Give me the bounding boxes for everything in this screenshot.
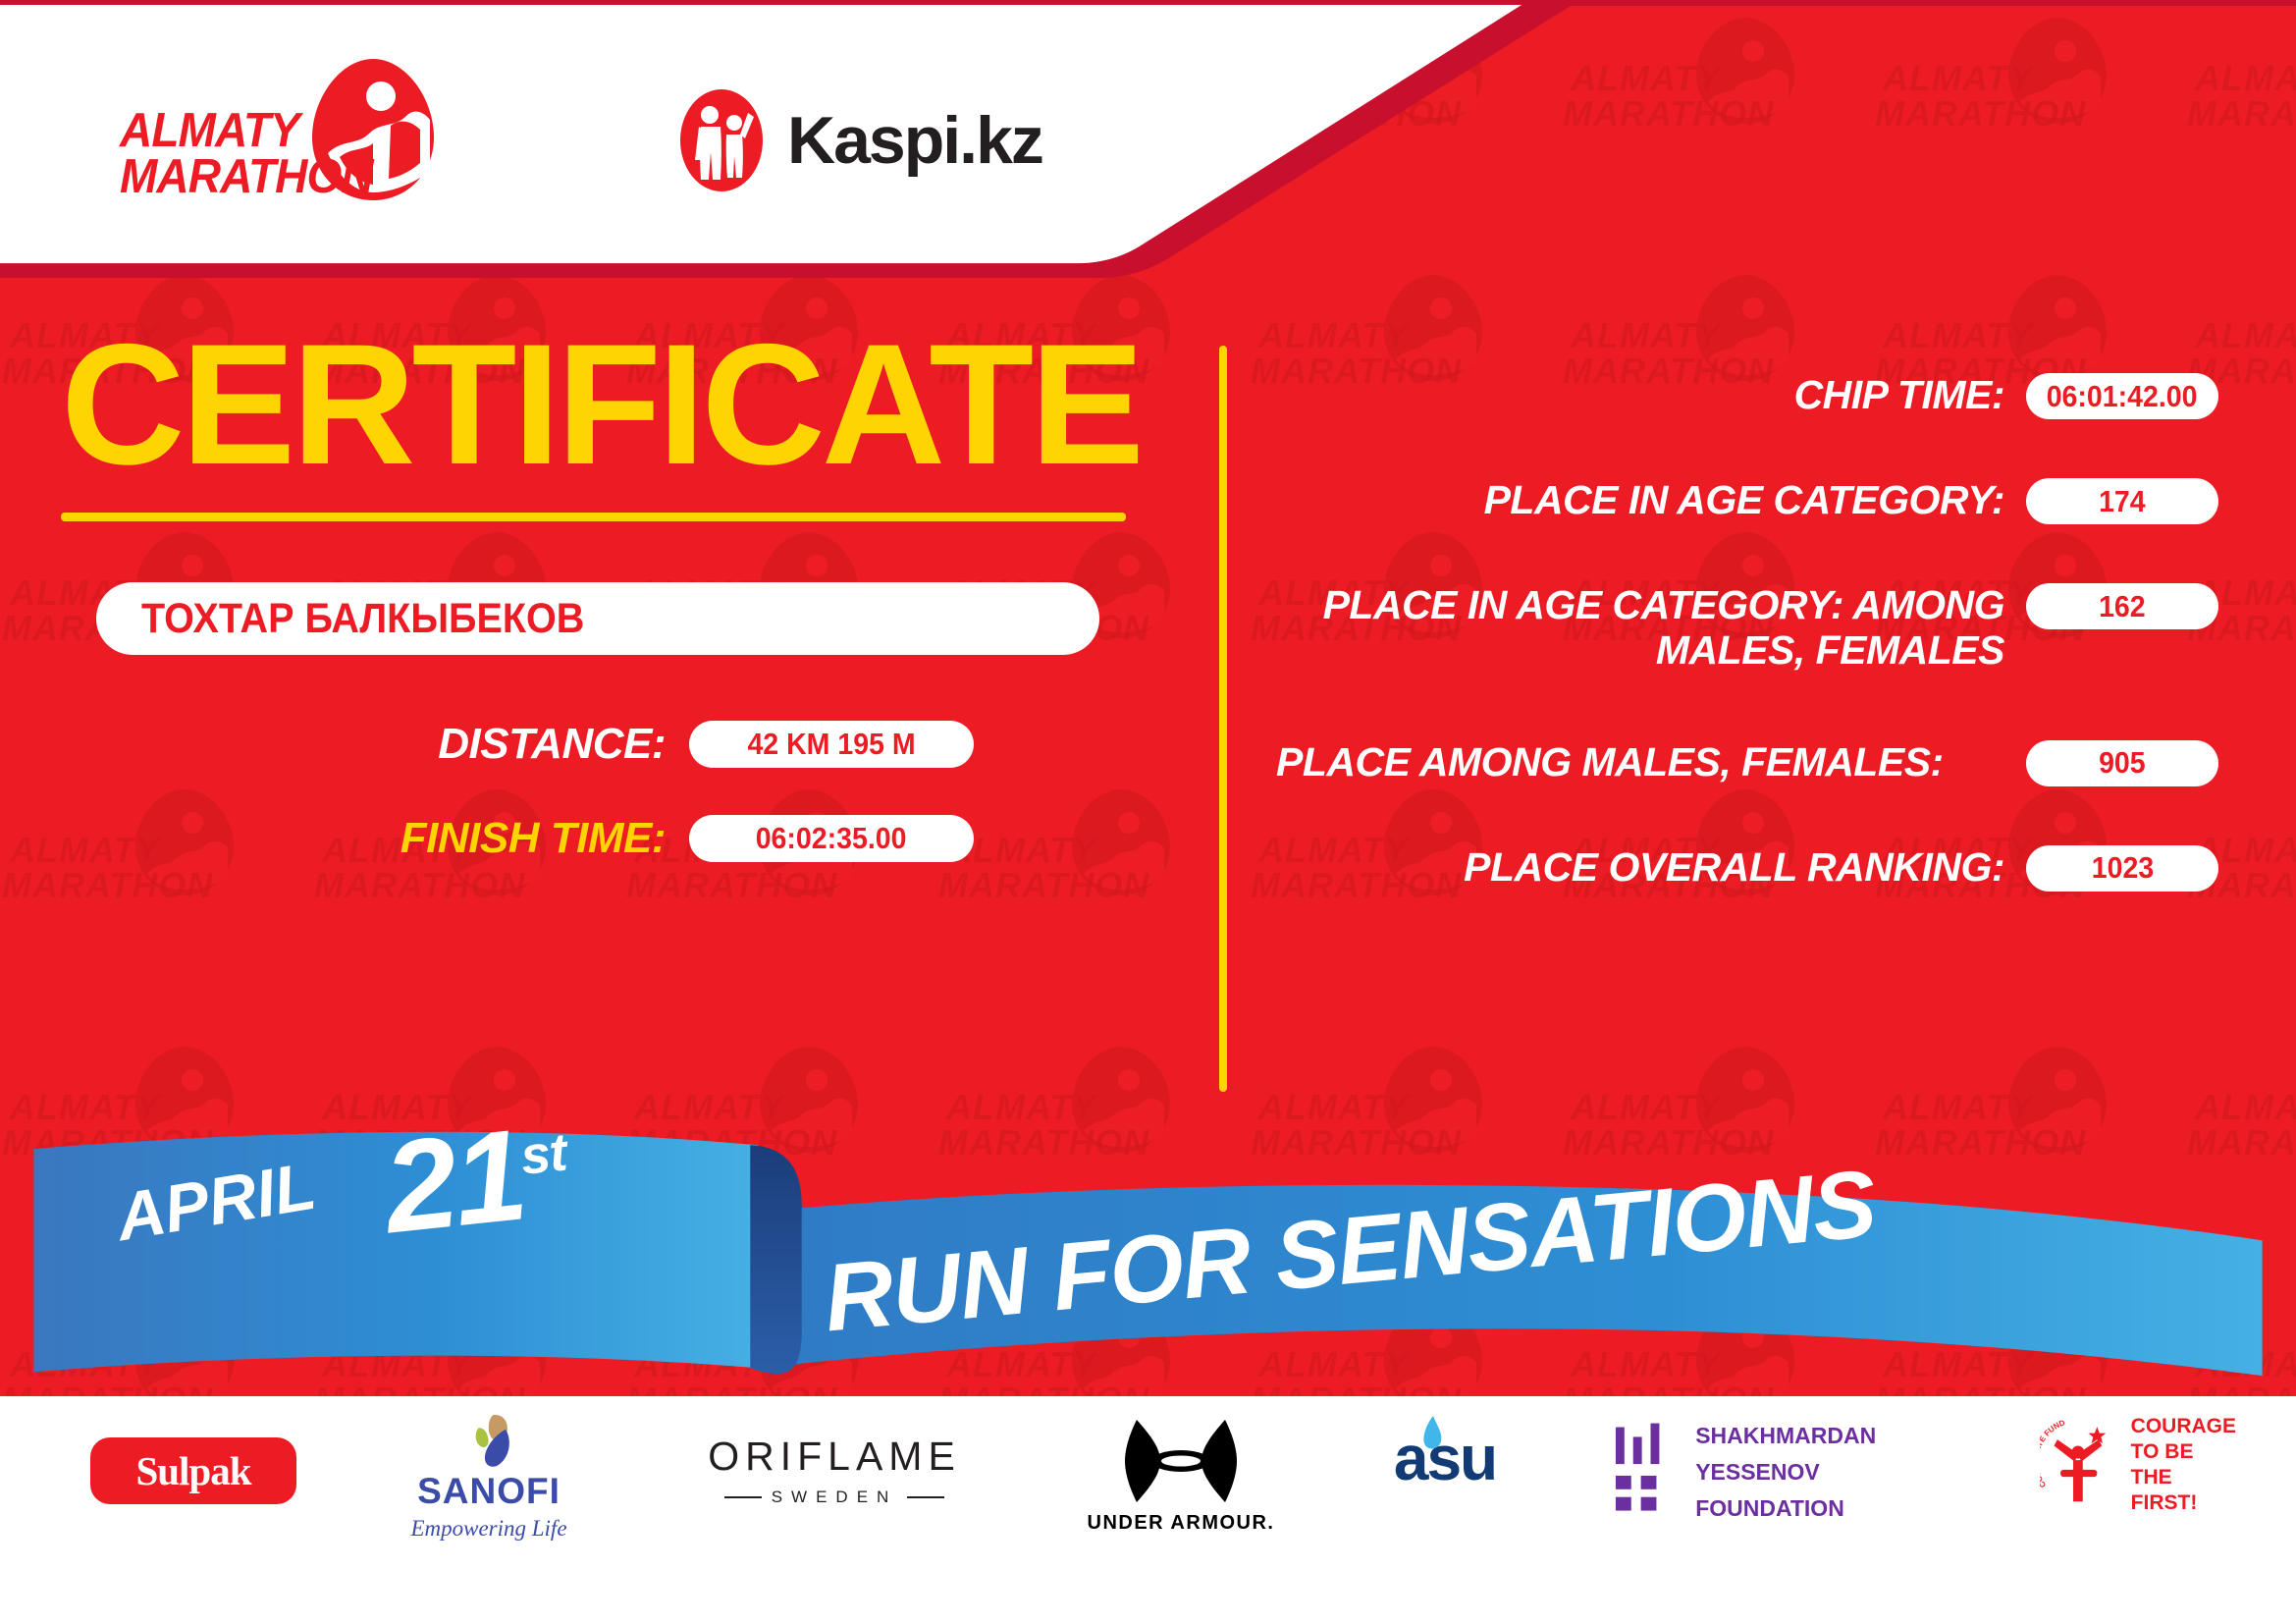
result-row-chip-time: CHIP TIME: 06:01:42.00	[1276, 373, 2218, 419]
place-age-category-gender-label: PLACE IN AGE CATEGORY: AMONG MALES, FEMA…	[1276, 583, 2004, 674]
distance-value: 42 KM 195 M	[747, 727, 915, 762]
yessenov-wordmark: SHAKHMARDAN YESSENOV FOUNDATION	[1695, 1418, 2002, 1526]
finish-time-label: FINISH TIME:	[273, 814, 666, 863]
certificate-title: CERTIFICATE	[0, 324, 1207, 487]
place-age-category-gender-value: 162	[2099, 589, 2146, 624]
place-age-category-gender-value-pill: 162	[2026, 583, 2218, 629]
sulpak-wordmark: Sulpak	[135, 1447, 250, 1494]
place-among-gender-label: PLACE AMONG MALES, FEMALES:	[1276, 740, 2004, 785]
sponsor-asu-logo: asu	[1357, 1422, 1533, 1494]
yessenov-line-1: SHAKHMARDAN YESSENOV	[1695, 1418, 2002, 1490]
sponsor-oriflame-logo: ORIFLAME SWEDEN	[687, 1434, 982, 1507]
almaty-marathon-logo: ALMATY MARATHON	[120, 47, 434, 224]
distance-label: DISTANCE:	[273, 720, 666, 769]
place-overall-value: 1023	[2091, 850, 2153, 886]
blue-ribbon-banner	[0, 1090, 2296, 1414]
sponsor-bar: Sulpak SANOFI Empowering Life ORIFLAME S…	[0, 1396, 2296, 1624]
kaspi-people-icon	[677, 87, 766, 193]
result-row-place-overall: PLACE OVERALL RANKING: 1023	[1276, 845, 2218, 892]
oriflame-subtitle-row: SWEDEN	[724, 1488, 945, 1507]
logo-line-2: MARATHON	[120, 154, 332, 200]
distance-value-pill: 42 KM 195 M	[689, 721, 974, 768]
sponsor-sanofi-logo: SANOFI Empowering Life	[391, 1412, 587, 1542]
result-row-place-age-category: PLACE IN AGE CATEGORY: 174	[1276, 478, 2218, 524]
courage-line-1: COURAGE	[2131, 1414, 2236, 1439]
results-column: CHIP TIME: 06:01:42.00 PLACE IN AGE CATE…	[1276, 373, 2218, 935]
header-band: ALMATY MARATHON Kaspi.	[0, 0, 2296, 285]
place-overall-label: PLACE OVERALL RANKING:	[1276, 845, 2004, 891]
courage-line-3: THE FIRST!	[2131, 1465, 2236, 1517]
sanofi-mark-icon	[451, 1412, 527, 1471]
result-row-place-among-gender: PLACE AMONG MALES, FEMALES: 905	[1276, 740, 2218, 786]
distance-row: DISTANCE: 42 KM 195 M	[96, 720, 1207, 769]
certificate-canvas: ALMATY MARATHON	[0, 0, 2296, 1624]
finish-time-row: FINISH TIME: 06:02:35.00	[96, 814, 1207, 863]
under-armour-wordmark: UNDER ARMOUR.	[1088, 1512, 1275, 1535]
svg-text:CORPORATE FUND: CORPORATE FUND	[2040, 1418, 2066, 1489]
place-age-category-value-pill: 174	[2026, 478, 2218, 524]
sponsor-yessenov-foundation-logo: SHAKHMARDAN YESSENOV FOUNDATION	[1610, 1418, 2002, 1526]
finish-time-value: 06:02:35.00	[756, 821, 907, 856]
courage-figure-icon: CORPORATE FUND	[2040, 1408, 2121, 1522]
chip-time-value: 06:01:42.00	[2047, 379, 2198, 414]
sanofi-tagline: Empowering Life	[410, 1516, 566, 1542]
participant-name-field: ТОХТАР БАЛКЫБЕКОВ	[96, 582, 1099, 655]
place-among-gender-value: 905	[2099, 745, 2146, 781]
kaspi-wordmark: Kaspi.kz	[787, 102, 1042, 179]
yessenov-line-2: FOUNDATION	[1695, 1490, 2002, 1527]
chip-time-value-pill: 06:01:42.00	[2026, 373, 2218, 419]
result-row-place-age-category-gender: PLACE IN AGE CATEGORY: AMONG MALES, FEMA…	[1276, 583, 2218, 674]
courage-line-2: TO BE	[2131, 1439, 2236, 1465]
oriflame-rule-left	[724, 1496, 762, 1498]
place-overall-value-pill: 1023	[2026, 845, 2218, 892]
yessenov-bars-icon	[1610, 1423, 1678, 1521]
logo-line-1: ALMATY	[120, 108, 332, 154]
participant-name-value: ТОХТАР БАЛКЫБЕКОВ	[141, 595, 584, 643]
courage-wordmark: COURAGE TO BE THE FIRST!	[2131, 1414, 2236, 1517]
almaty-marathon-wordmark: ALMATY MARATHON	[120, 108, 346, 199]
oriflame-subtitle: SWEDEN	[772, 1488, 898, 1507]
sponsor-sulpak-logo: Sulpak	[90, 1437, 296, 1504]
sanofi-wordmark: SANOFI	[417, 1471, 561, 1512]
sponsor-courage-fund-logo: CORPORATE FUND COURAGE TO BE THE FIRST!	[2040, 1408, 2236, 1522]
header-logos: ALMATY MARATHON Kaspi.	[0, 0, 1178, 275]
oriflame-wordmark: ORIFLAME	[708, 1434, 961, 1480]
sponsor-under-armour-logo: UNDER ARMOUR.	[1078, 1416, 1284, 1535]
oriflame-rule-right	[907, 1496, 944, 1498]
kaspi-logo: Kaspi.kz	[677, 96, 1042, 185]
place-age-category-value: 174	[2099, 484, 2146, 519]
place-among-gender-value-pill: 905	[2026, 740, 2218, 786]
title-underline-rule	[61, 513, 1126, 521]
place-age-category-label: PLACE IN AGE CATEGORY:	[1276, 478, 2004, 523]
asu-droplet-icon	[1414, 1414, 1447, 1453]
finish-time-value-pill: 06:02:35.00	[689, 815, 974, 862]
under-armour-icon	[1123, 1416, 1239, 1506]
chip-time-label: CHIP TIME:	[1276, 373, 2004, 418]
column-divider	[1219, 346, 1227, 1092]
left-column: CERTIFICATE ТОХТАР БАЛКЫБЕКОВ DISTANCE: …	[0, 324, 1207, 863]
